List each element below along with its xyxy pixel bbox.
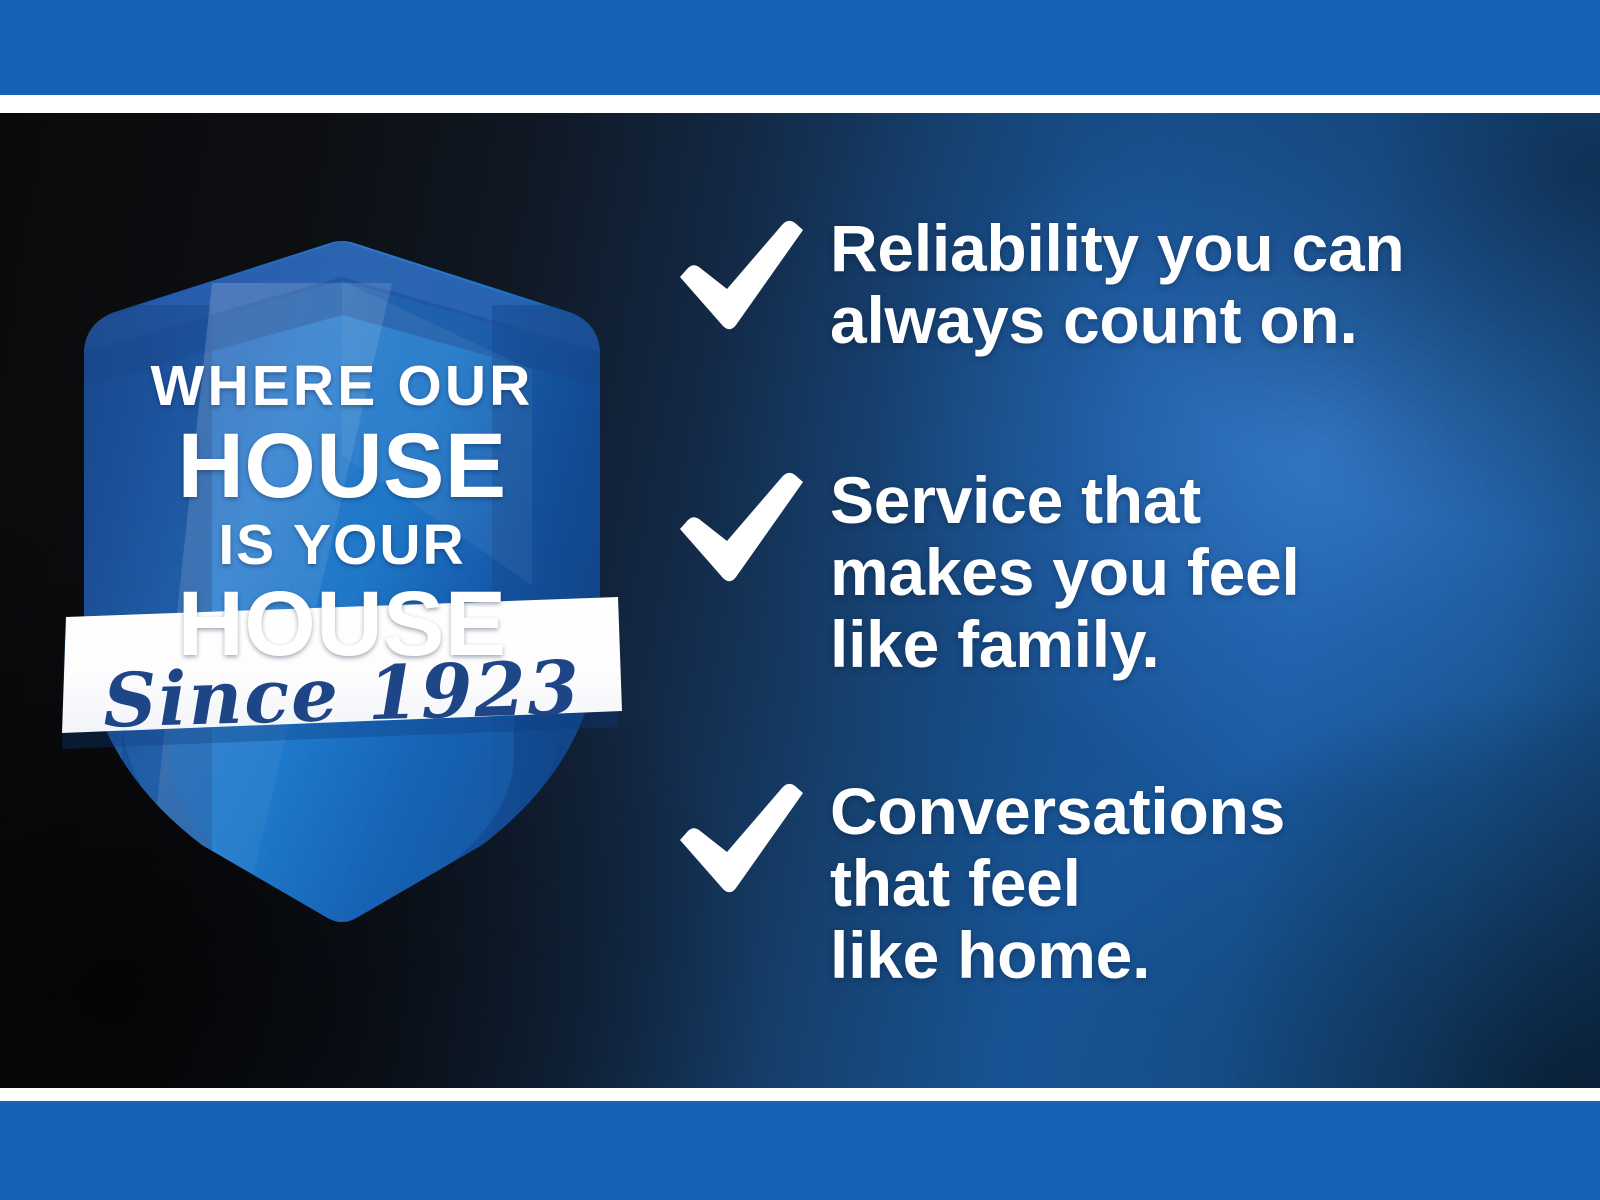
benefit-line: always count on. [830,285,1404,357]
benefit-text-conversations: Conversations that feel like home. [830,776,1285,992]
benefit-text-reliability: Reliability you can always count on. [830,213,1404,357]
shield-logo: WHERE OUR HOUSE IS YOUR HOUSE Since 1923 [62,155,622,935]
benefit-item-conversations: Conversations that feel like home. [672,776,1285,992]
benefit-line: like family. [830,609,1300,681]
benefit-line: Conversations [830,776,1285,848]
benefit-item-service: Service that makes you feel like family. [672,465,1300,681]
check-icon [672,471,808,587]
benefit-line: that feel [830,848,1285,920]
benefit-line: like home. [830,920,1285,992]
benefit-item-reliability: Reliability you can always count on. [672,213,1404,357]
benefit-line: Service that [830,465,1300,537]
top-brand-bar [0,0,1600,95]
benefit-list: Reliability you can always count on. Ser… [672,113,1492,1088]
check-icon [672,219,808,335]
shield-badge-icon [62,155,622,935]
banner-face [62,597,622,733]
bottom-brand-bar [0,1101,1600,1200]
check-icon [672,782,808,898]
banner-ribbon [62,597,622,749]
benefit-text-service: Service that makes you feel like family. [830,465,1300,681]
benefit-line: makes you feel [830,537,1300,609]
benefit-line: Reliability you can [830,213,1404,285]
promo-graphic: WHERE OUR HOUSE IS YOUR HOUSE Since 1923… [0,0,1600,1200]
